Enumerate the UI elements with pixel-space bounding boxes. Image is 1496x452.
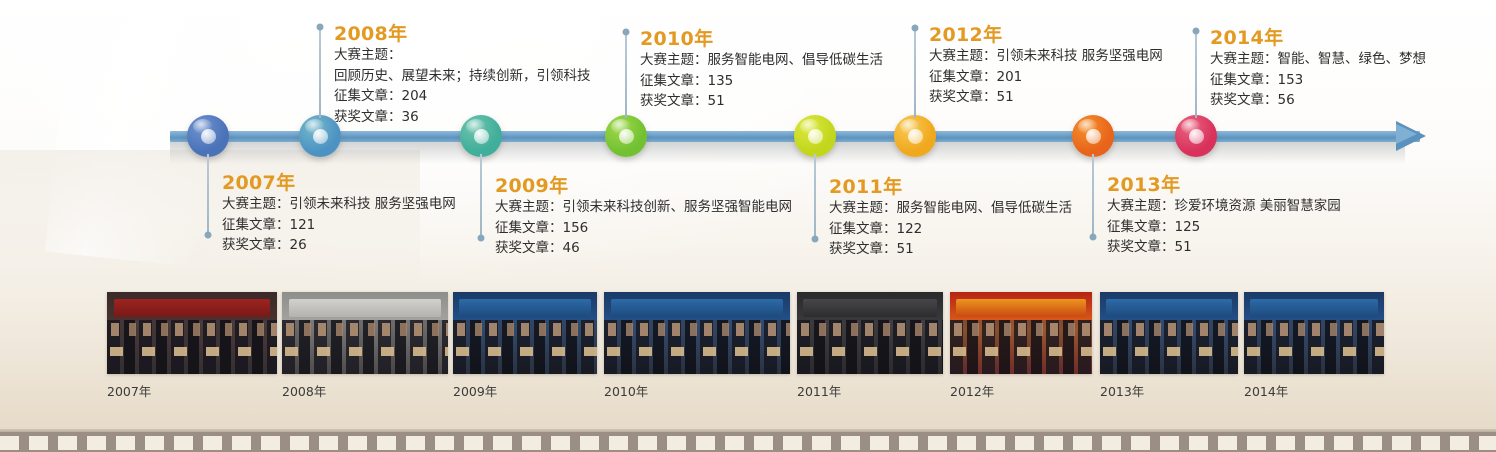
photo-heads: [950, 323, 1092, 336]
callout-theme-line: 大赛主题：引领未来科技创新、服务坚强智能电网: [495, 197, 792, 218]
gallery-photo[interactable]: [282, 292, 448, 374]
node-hole: [474, 129, 489, 144]
photo-certificates: [797, 347, 943, 356]
gallery-item[interactable]: 2011年: [797, 292, 943, 400]
gallery-photo[interactable]: [453, 292, 597, 374]
gallery-item[interactable]: 2010年: [604, 292, 790, 400]
timeline-callout-2013: 2013年大赛主题：珍爱环境资源 美丽智慧家园征集文章：125获奖文章：51: [1107, 174, 1341, 258]
node-hole: [313, 129, 328, 144]
node-hole: [908, 129, 923, 144]
node-hole: [1189, 129, 1204, 144]
timeline-stem-dot: [205, 232, 212, 239]
callout-theme-line: 大赛主题：珍爱环境资源 美丽智慧家园: [1107, 196, 1341, 217]
photo-banner: [459, 299, 592, 317]
photo-heads: [797, 323, 943, 336]
photo-certificates: [1100, 347, 1238, 356]
callout-awarded: 获奖文章：46: [495, 238, 792, 259]
callout-theme-line: 回顾历史、展望未来；持续创新，引领科技: [334, 66, 591, 87]
callout-submitted: 征集文章：122: [829, 219, 1072, 240]
callout-awarded: 获奖文章：26: [222, 235, 456, 256]
timeline-stem: [319, 27, 321, 118]
callout-submitted: 征集文章：153: [1210, 70, 1426, 91]
photo-heads: [1100, 323, 1238, 336]
photo-heads: [282, 323, 448, 336]
callout-awarded: 获奖文章：51: [829, 239, 1072, 260]
photo-banner: [289, 299, 442, 317]
filmstrip-border: [0, 432, 1496, 452]
timeline-arrow-highlight-icon: [1396, 124, 1417, 144]
photo-heads: [453, 323, 597, 336]
node-hole: [619, 129, 634, 144]
timeline-stem: [1195, 31, 1197, 118]
photo-certificates: [950, 347, 1092, 356]
timeline-axis-shadow: [170, 142, 1405, 164]
timeline-node-2013[interactable]: [1072, 115, 1114, 157]
timeline-callout-2008: 2008年大赛主题：回顾历史、展望未来；持续创新，引领科技征集文章：204获奖文…: [334, 23, 591, 127]
photo-banner: [114, 299, 270, 317]
timeline-callout-2007: 2007年大赛主题：引领未来科技 服务坚强电网征集文章：121获奖文章：26: [222, 172, 456, 256]
callout-theme-line: 大赛主题：引领未来科技 服务坚强电网: [222, 194, 456, 215]
callout-theme-line: 大赛主题：引领未来科技 服务坚强电网: [929, 46, 1163, 67]
callout-theme-line: 大赛主题：智能、智慧、绿色、梦想: [1210, 49, 1426, 70]
callout-submitted: 征集文章：204: [334, 86, 591, 107]
callout-theme-line: 大赛主题：服务智能电网、倡导低碳生活: [640, 50, 883, 71]
callout-submitted: 征集文章：125: [1107, 217, 1341, 238]
gallery-caption: 2008年: [282, 381, 448, 400]
gallery-item[interactable]: 2012年: [950, 292, 1092, 400]
callout-submitted: 征集文章：201: [929, 67, 1163, 88]
gallery-caption: 2013年: [1100, 381, 1238, 400]
callout-submitted: 征集文章：156: [495, 218, 792, 239]
gallery-photo[interactable]: [107, 292, 277, 374]
photo-banner: [1250, 299, 1379, 317]
photo-heads: [1244, 323, 1384, 336]
timeline-node-2014[interactable]: [1175, 115, 1217, 157]
timeline-stem: [914, 28, 916, 118]
timeline-stem: [207, 154, 209, 235]
gallery-caption: 2014年: [1244, 381, 1384, 400]
gallery-photo[interactable]: [950, 292, 1092, 374]
timeline-stem-dot: [1193, 28, 1200, 35]
photo-banner: [611, 299, 782, 317]
timeline-stem-dot: [478, 235, 485, 242]
callout-year: 2013年: [1107, 174, 1341, 196]
photo-banner: [956, 299, 1087, 317]
timeline-callout-2010: 2010年大赛主题：服务智能电网、倡导低碳生活征集文章：135获奖文章：51: [640, 28, 883, 112]
gallery-item[interactable]: 2013年: [1100, 292, 1238, 400]
callout-year: 2011年: [829, 176, 1072, 198]
timeline-node-2011[interactable]: [794, 115, 836, 157]
callout-year: 2014年: [1210, 27, 1426, 49]
callout-awarded: 获奖文章：51: [929, 87, 1163, 108]
gallery-photo[interactable]: [797, 292, 943, 374]
gallery-item[interactable]: 2009年: [453, 292, 597, 400]
photo-heads: [107, 323, 277, 336]
callout-awarded: 获奖文章：56: [1210, 90, 1426, 111]
timeline-stem-dot: [812, 236, 819, 243]
gallery-caption: 2012年: [950, 381, 1092, 400]
callout-year: 2009年: [495, 175, 792, 197]
timeline-callout-2011: 2011年大赛主题：服务智能电网、倡导低碳生活征集文章：122获奖文章：51: [829, 176, 1072, 260]
gallery-photo[interactable]: [604, 292, 790, 374]
callout-year: 2012年: [929, 24, 1163, 46]
gallery-item[interactable]: 2008年: [282, 292, 448, 400]
node-hole: [1086, 129, 1101, 144]
filmstrip-perforations: [0, 436, 1496, 450]
gallery-caption: 2009年: [453, 381, 597, 400]
gallery-caption: 2010年: [604, 381, 790, 400]
timeline-callout-2009: 2009年大赛主题：引领未来科技创新、服务坚强智能电网征集文章：156获奖文章：…: [495, 175, 792, 259]
timeline-node-2009[interactable]: [460, 115, 502, 157]
callout-year: 2007年: [222, 172, 456, 194]
callout-theme-line: 大赛主题：: [334, 45, 591, 66]
infographic-canvas: 2007年大赛主题：引领未来科技 服务坚强电网征集文章：121获奖文章：2620…: [0, 0, 1496, 452]
gallery-item[interactable]: 2014年: [1244, 292, 1384, 400]
callout-theme-line: 大赛主题：服务智能电网、倡导低碳生活: [829, 198, 1072, 219]
timeline-callout-2012: 2012年大赛主题：引领未来科技 服务坚强电网征集文章：201获奖文章：51: [929, 24, 1163, 108]
timeline-stem: [625, 32, 627, 118]
callout-awarded: 获奖文章：51: [1107, 237, 1341, 258]
gallery-photo[interactable]: [1100, 292, 1238, 374]
timeline-stem-dot: [1090, 234, 1097, 241]
callout-year: 2010年: [640, 28, 883, 50]
timeline-stem-dot: [912, 25, 919, 32]
gallery-caption: 2007年: [107, 381, 277, 400]
gallery-item[interactable]: 2007年: [107, 292, 277, 400]
callout-submitted: 征集文章：135: [640, 71, 883, 92]
photo-heads: [604, 323, 790, 336]
gallery-caption: 2011年: [797, 381, 943, 400]
gallery-photo[interactable]: [1244, 292, 1384, 374]
photo-certificates: [107, 347, 277, 356]
timeline-node-2012[interactable]: [894, 115, 936, 157]
callout-awarded: 获奖文章：51: [640, 91, 883, 112]
photo-certificates: [282, 347, 448, 356]
photo-certificates: [1244, 347, 1384, 356]
timeline-stem: [1092, 154, 1094, 237]
timeline-node-2007[interactable]: [187, 115, 229, 157]
callout-submitted: 征集文章：121: [222, 215, 456, 236]
photo-certificates: [453, 347, 597, 356]
callout-year: 2008年: [334, 23, 591, 45]
timeline-stem-dot: [317, 24, 324, 31]
timeline-node-2010[interactable]: [605, 115, 647, 157]
timeline-callout-2014: 2014年大赛主题：智能、智慧、绿色、梦想征集文章：153获奖文章：56: [1210, 27, 1426, 111]
node-hole: [201, 129, 216, 144]
timeline-stem: [814, 154, 816, 239]
node-hole: [808, 129, 823, 144]
photo-banner: [1106, 299, 1233, 317]
timeline-stem-dot: [623, 29, 630, 36]
timeline-stem: [480, 154, 482, 238]
photo-certificates: [604, 347, 790, 356]
photo-banner: [803, 299, 937, 317]
